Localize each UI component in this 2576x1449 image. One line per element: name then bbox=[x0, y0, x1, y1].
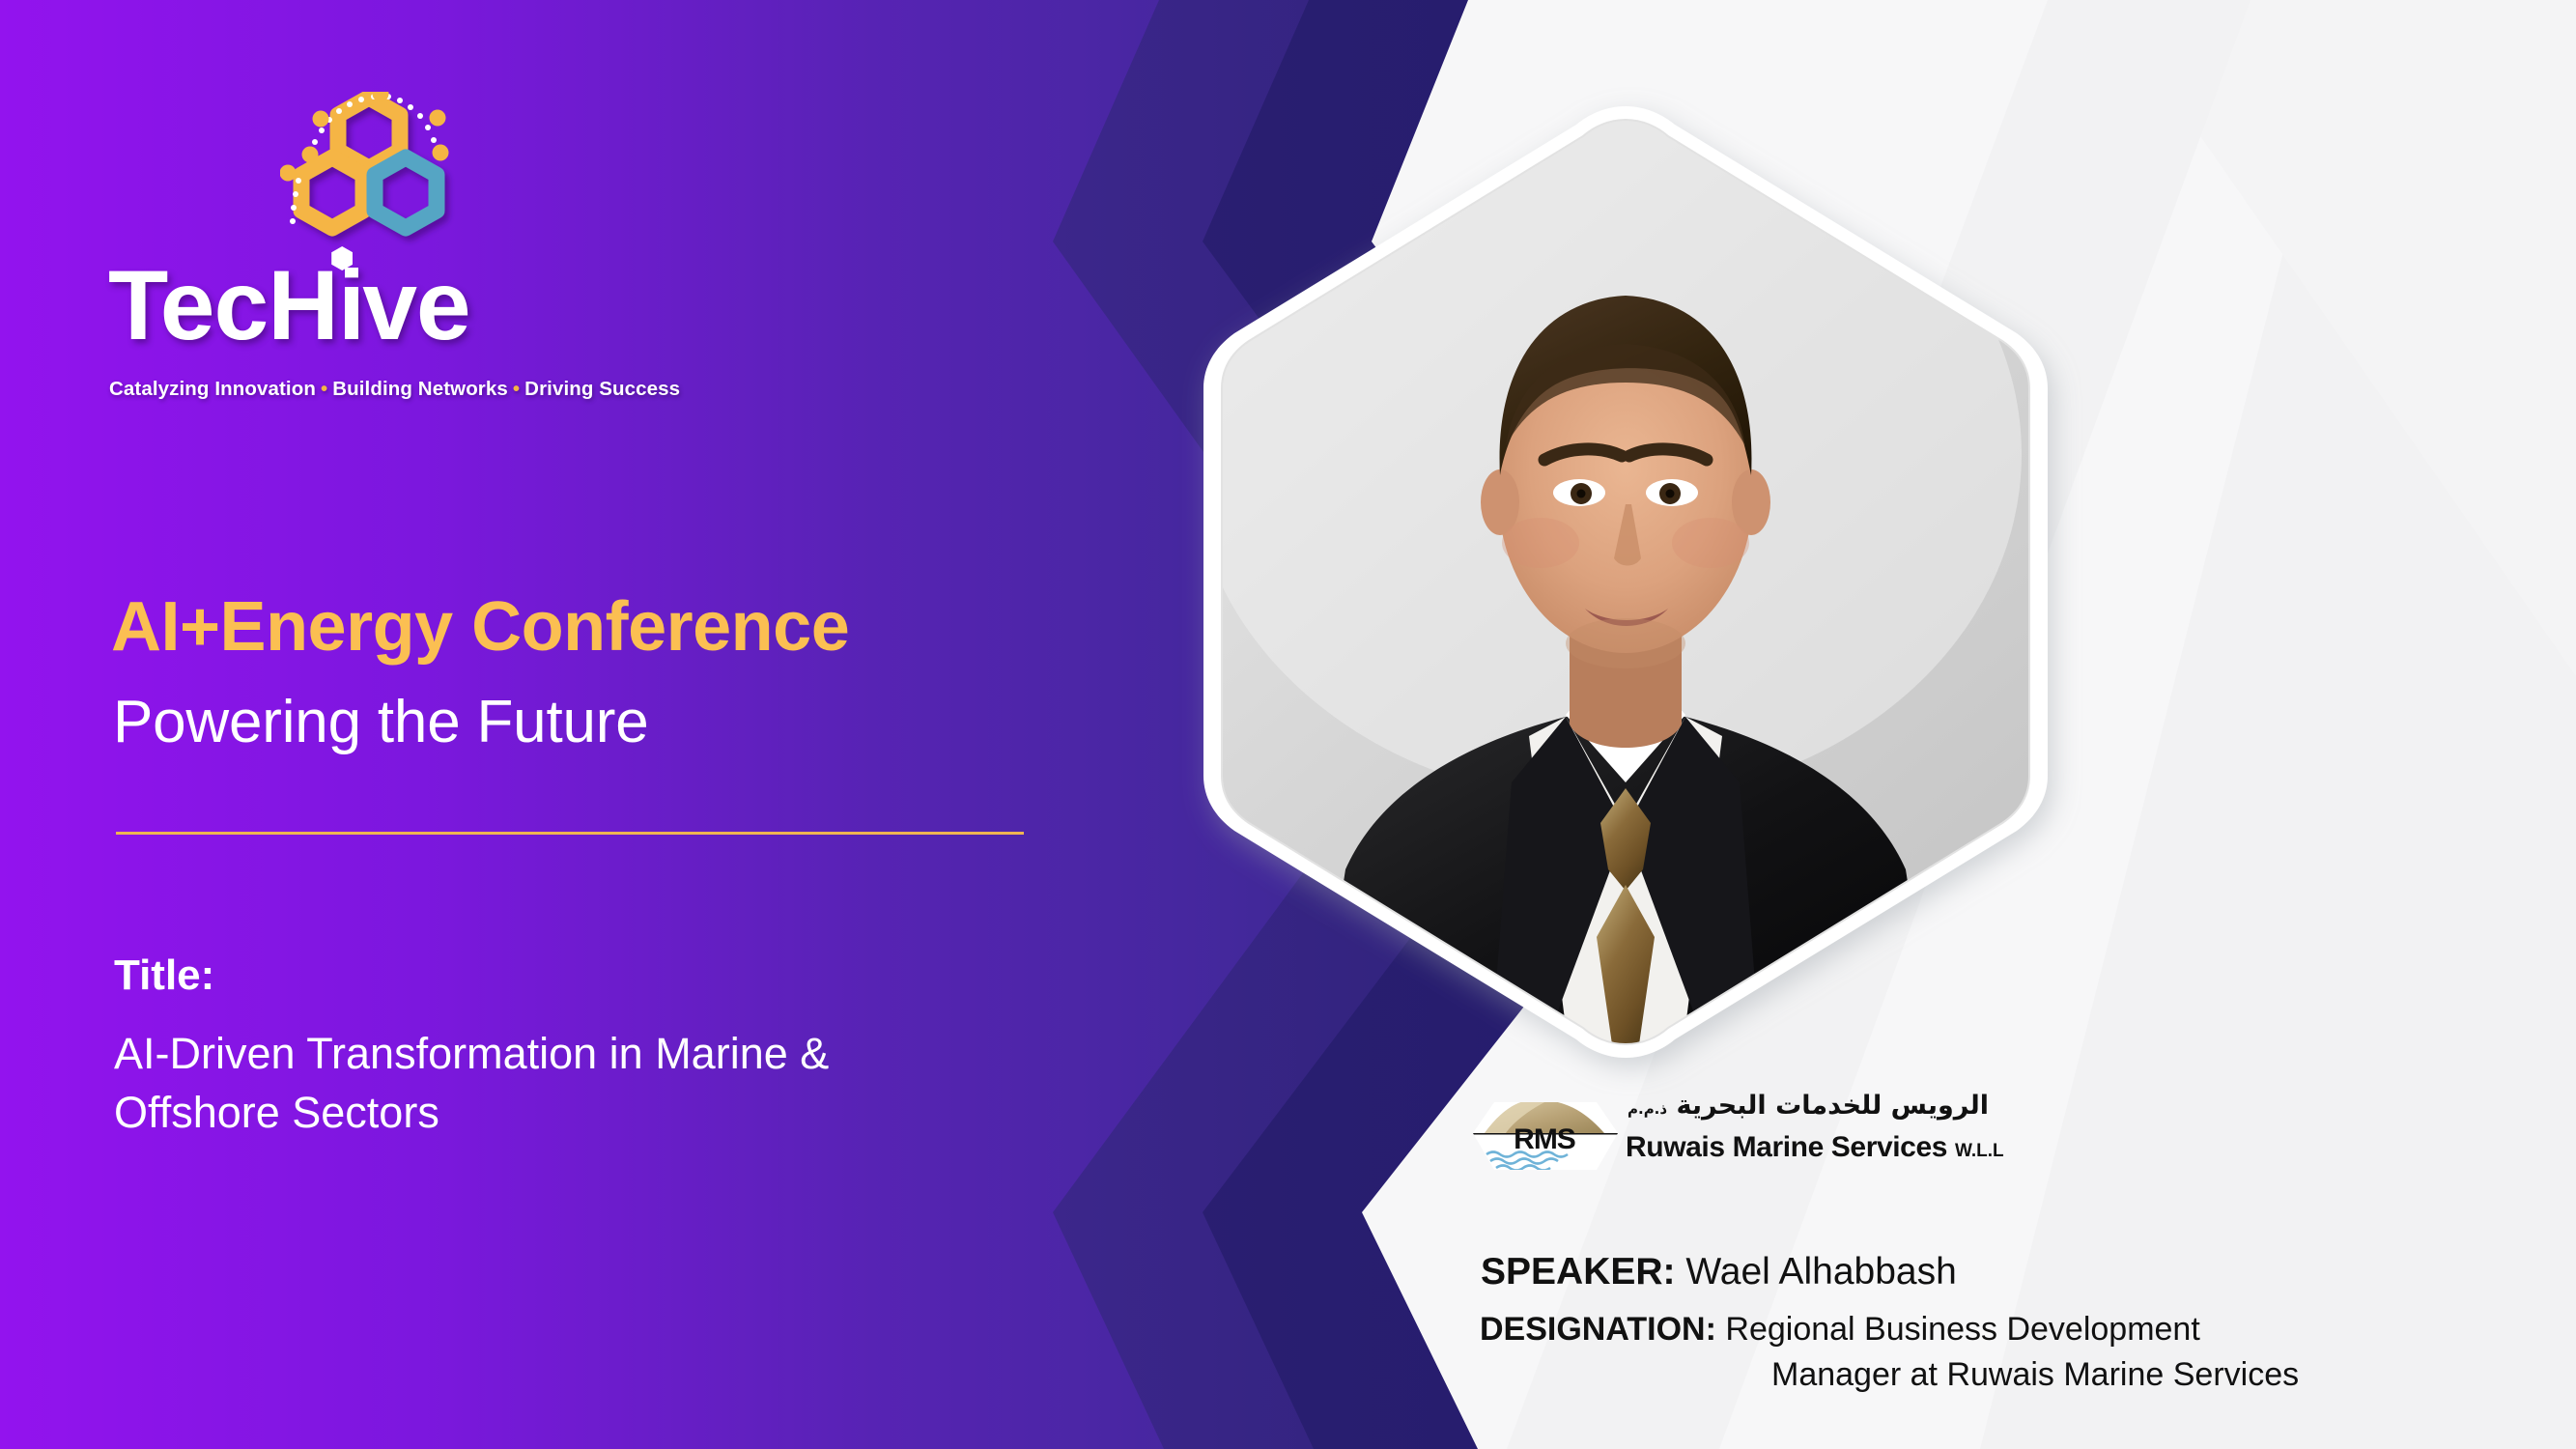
company-name-arabic: الرويس للخدمات البحرية ذ.م.م bbox=[1628, 1091, 1989, 1121]
designation-label: DESIGNATION: bbox=[1480, 1311, 1716, 1348]
designation-line-2: Manager at Ruwais Marine Services bbox=[1771, 1356, 2299, 1394]
hexagon-dot-icon bbox=[331, 246, 353, 270]
hexagon-honeycomb-icon bbox=[280, 92, 464, 256]
company-english-text: Ruwais Marine Services bbox=[1626, 1131, 1947, 1163]
speaker-announcement-card: TecHive Catalyzing Innovation•Building N… bbox=[0, 0, 2576, 1449]
talk-title-line-1: AI-Driven Transformation in Marine & bbox=[114, 1024, 1090, 1083]
company-legal-suffix: W.L.L bbox=[1955, 1141, 2004, 1161]
designation-row: DESIGNATION: Regional Business Developme… bbox=[1480, 1311, 2200, 1349]
event-subtitle: Powering the Future bbox=[113, 688, 649, 756]
brand-wordmark: TecHive bbox=[108, 258, 668, 355]
speaker-portrait-frame bbox=[1201, 106, 2051, 1058]
brand-tagline: Catalyzing Innovation•Building Networks•… bbox=[109, 378, 708, 401]
talk-title-text: AI-Driven Transformation in Marine & Off… bbox=[114, 1024, 1090, 1142]
gold-divider-rule bbox=[116, 832, 1024, 835]
talk-title-line-2: Offshore Sectors bbox=[114, 1083, 1090, 1142]
speaker-photo bbox=[1191, 106, 2051, 1058]
techive-logo: TecHive Catalyzing Innovation•Building N… bbox=[108, 92, 668, 382]
tagline-part-1: Catalyzing Innovation bbox=[109, 378, 316, 400]
talk-title-label: Title: bbox=[114, 952, 214, 1000]
event-title: AI+Energy Conference bbox=[111, 587, 849, 667]
tagline-part-2: Building Networks bbox=[332, 378, 508, 400]
speaker-row: SPEAKER: Wael Alhabbash bbox=[1481, 1251, 1957, 1293]
company-logo-rms: RMS الرويس للخدمات البحرية ذ.م.م Ruwais … bbox=[1473, 1094, 2014, 1172]
designation-line-1: Regional Business Development bbox=[1725, 1311, 2199, 1348]
tagline-part-3: Driving Success bbox=[524, 378, 680, 400]
company-arabic-suffix: ذ.م.م bbox=[1628, 1100, 1667, 1118]
company-name-english: Ruwais Marine Services W.L.L bbox=[1626, 1131, 2004, 1164]
tagline-separator-1: • bbox=[316, 378, 332, 400]
speaker-label: SPEAKER: bbox=[1481, 1251, 1676, 1293]
tagline-separator-2: • bbox=[508, 378, 524, 400]
rms-monogram-text: RMS bbox=[1514, 1123, 1575, 1155]
rms-dune-waves-icon: RMS bbox=[1473, 1094, 1618, 1172]
speaker-name: Wael Alhabbash bbox=[1685, 1251, 1956, 1293]
company-arabic-main: الرويس للخدمات البحرية bbox=[1677, 1091, 1989, 1121]
